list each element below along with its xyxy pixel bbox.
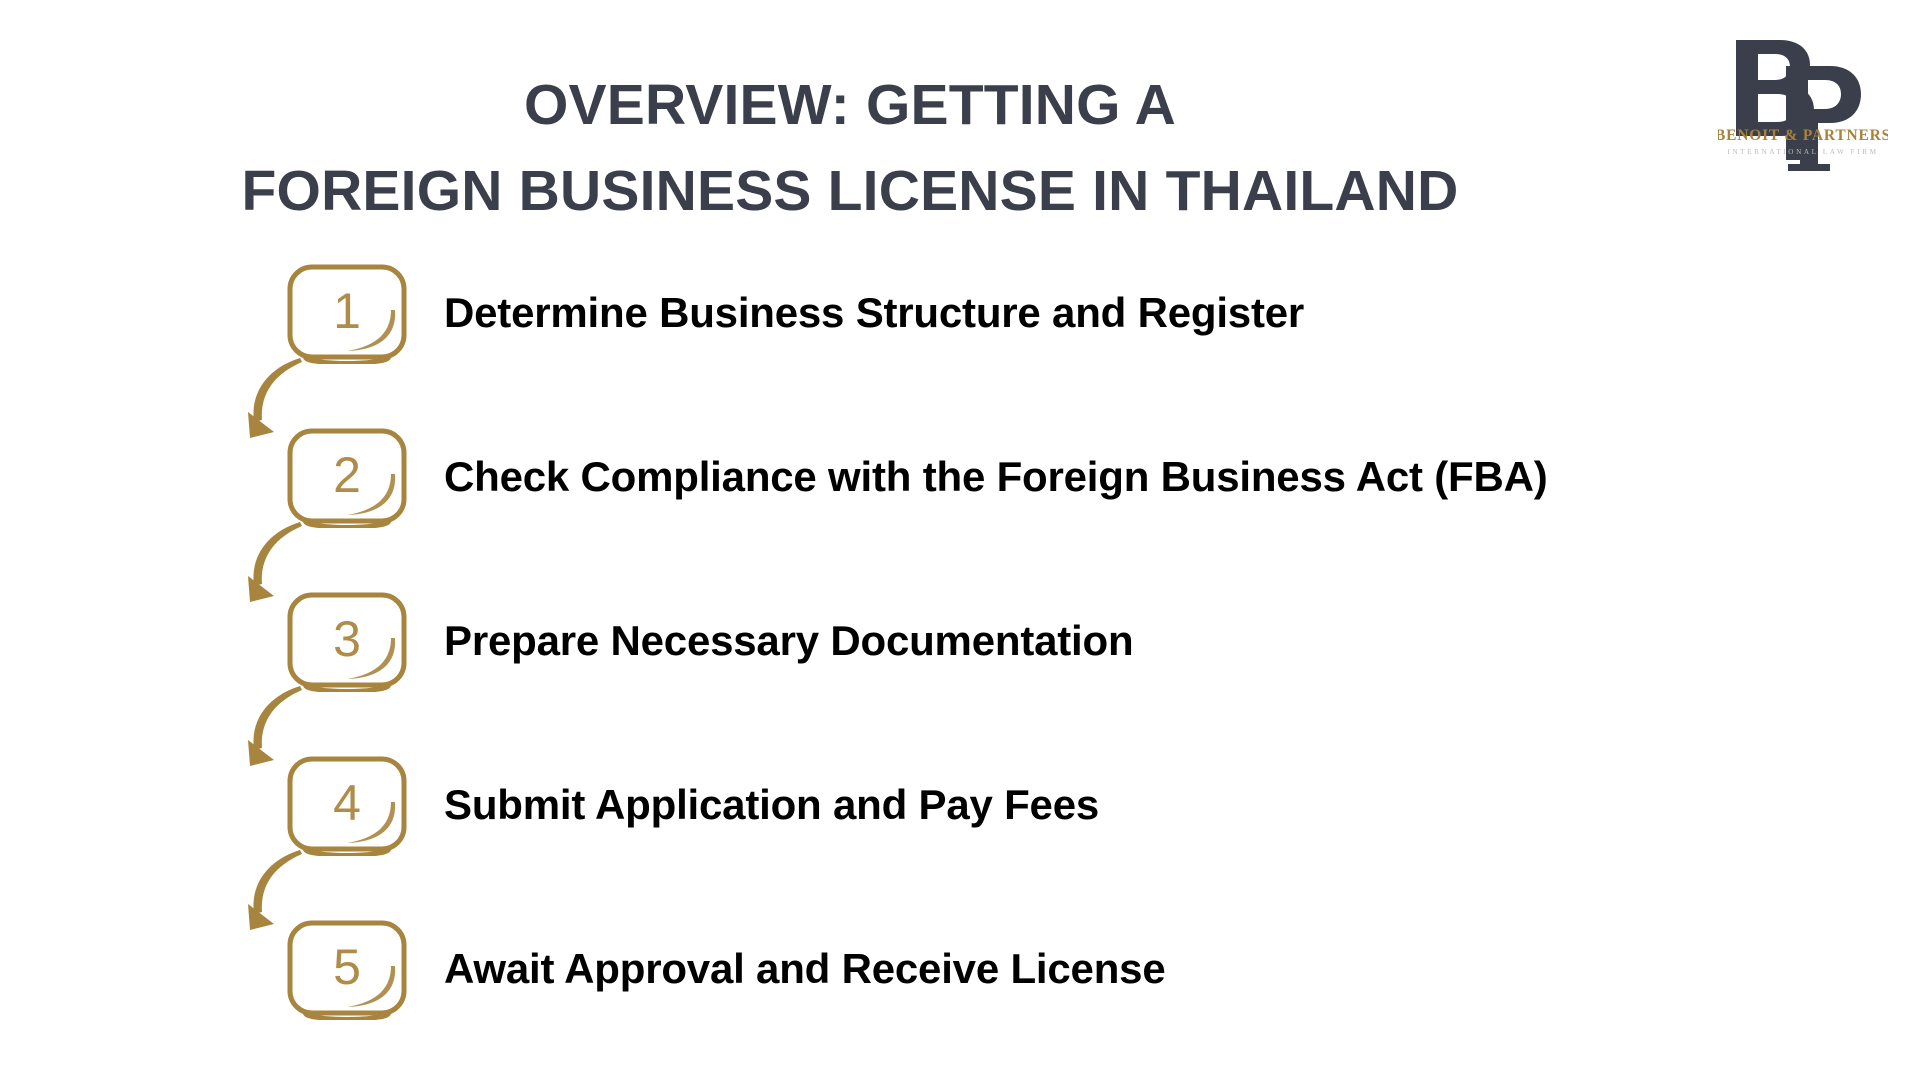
step-badge: 4 — [283, 754, 411, 856]
slide-title: OVERVIEW: GETTING A FOREIGN BUSINESS LIC… — [0, 62, 1700, 234]
step-label: Check Compliance with the Foreign Busine… — [444, 418, 1548, 536]
step-badge: 3 — [283, 590, 411, 692]
step-number: 2 — [283, 426, 411, 528]
step-item: 4 Submit Application and Pay Fees — [0, 746, 1920, 910]
step-label: Prepare Necessary Documentation — [444, 582, 1133, 700]
step-label: Submit Application and Pay Fees — [444, 746, 1099, 864]
title-line-1: OVERVIEW: GETTING A — [0, 62, 1700, 148]
step-number: 4 — [283, 754, 411, 856]
steps-list: 1 Determine Business Structure and Regis… — [0, 254, 1920, 1074]
step-label: Determine Business Structure and Registe… — [444, 254, 1304, 372]
step-item: 3 Prepare Necessary Documentation — [0, 582, 1920, 746]
step-item: 5 Await Approval and Receive License — [0, 910, 1920, 1074]
logo-firm-name: BENOIT & PARTNERS — [1718, 127, 1888, 144]
step-item: 2 Check Compliance with the Foreign Busi… — [0, 418, 1920, 582]
step-badge: 2 — [283, 426, 411, 528]
step-number: 5 — [283, 918, 411, 1020]
title-line-2: FOREIGN BUSINESS LICENSE IN THAILAND — [0, 148, 1700, 234]
logo-tagline: INTERNATIONAL LAW FIRM — [1727, 148, 1878, 156]
step-label: Await Approval and Receive License — [444, 910, 1165, 1028]
step-badge: 5 — [283, 918, 411, 1020]
step-item: 1 Determine Business Structure and Regis… — [0, 254, 1920, 418]
step-number: 3 — [283, 590, 411, 692]
company-logo: BENOIT & PARTNERS INTERNATIONAL LAW FIRM — [1718, 28, 1888, 178]
step-badge: 1 — [283, 262, 411, 364]
step-number: 1 — [283, 262, 411, 364]
